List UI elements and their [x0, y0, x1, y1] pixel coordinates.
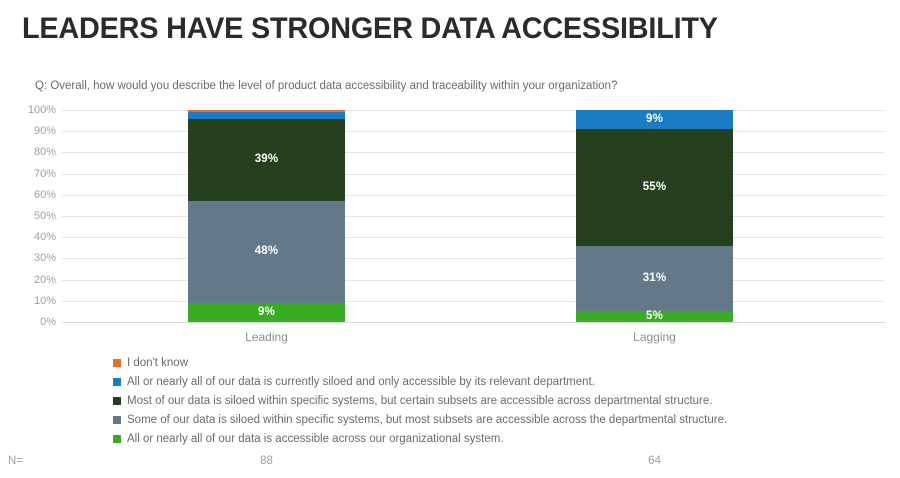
- legend-item[interactable]: All or nearly all of our data is accessi…: [113, 429, 893, 448]
- legend-item[interactable]: Some of our data is siloed within specif…: [113, 410, 893, 429]
- chart-legend: I don't knowAll or nearly all of our dat…: [113, 353, 893, 448]
- y-axis-tick: 50%: [34, 210, 56, 222]
- gridline: [62, 152, 885, 153]
- legend-item[interactable]: Most of our data is siloed within specif…: [113, 391, 893, 410]
- sample-size-row: N= 8864: [0, 455, 900, 473]
- gridline: [62, 195, 885, 196]
- legend-swatch-icon: [113, 378, 121, 386]
- sample-size-label: N=: [8, 455, 23, 467]
- legend-item-label: All or nearly all of our data is current…: [127, 376, 595, 388]
- sample-size-value: 88: [188, 455, 345, 467]
- y-axis-tick: 10%: [34, 295, 56, 307]
- gridline: [62, 237, 885, 238]
- bar-segment[interactable]: 9%: [188, 303, 345, 322]
- bar-segment-value: 31%: [643, 273, 667, 285]
- y-axis-tick: 0%: [40, 316, 56, 328]
- gridline: [62, 301, 885, 302]
- bar-segment-value: 5%: [646, 311, 663, 323]
- y-axis-tick: 60%: [34, 189, 56, 201]
- y-axis: 0%10%20%30%40%50%60%70%80%90%100%: [0, 110, 56, 322]
- bar-segment[interactable]: 5%: [576, 311, 733, 322]
- bar-segment[interactable]: 31%: [576, 246, 733, 312]
- bar-segment-value: 39%: [255, 154, 279, 166]
- bar-segment[interactable]: 9%: [576, 110, 733, 129]
- y-axis-tick: 70%: [34, 168, 56, 180]
- y-axis-tick: 80%: [34, 146, 56, 158]
- bar-lagging[interactable]: 9%55%31%5%: [576, 110, 733, 322]
- legend-item-label: Most of our data is siloed within specif…: [127, 395, 712, 407]
- gridline: [62, 216, 885, 217]
- legend-item-label: Some of our data is siloed within specif…: [127, 414, 727, 426]
- plot-area: 39%48%9%9%55%31%5%: [62, 110, 885, 322]
- sample-size-value: 64: [576, 455, 733, 467]
- gridline: [62, 258, 885, 259]
- y-axis-tick: 100%: [28, 104, 56, 116]
- legend-item-label: All or nearly all of our data is accessi…: [127, 433, 503, 445]
- bar-segment[interactable]: 55%: [576, 129, 733, 246]
- bar-segment-value: 9%: [646, 114, 663, 126]
- legend-swatch-icon: [113, 359, 121, 367]
- bar-segment[interactable]: 39%: [188, 119, 345, 202]
- bar-segment-value: 55%: [643, 182, 667, 194]
- bar-leading[interactable]: 39%48%9%: [188, 110, 345, 322]
- legend-swatch-icon: [113, 397, 121, 405]
- legend-item[interactable]: All or nearly all of our data is current…: [113, 372, 893, 391]
- legend-item-label: I don't know: [127, 357, 188, 369]
- gridline: [62, 280, 885, 281]
- gridline: [62, 322, 885, 323]
- gridline: [62, 110, 885, 111]
- y-axis-tick: 90%: [34, 125, 56, 137]
- chart-question-text: Q: Overall, how would you describe the l…: [35, 80, 617, 92]
- bar-segment-value: 9%: [258, 307, 275, 319]
- bar-segment-value: 48%: [255, 246, 279, 258]
- y-axis-tick: 30%: [34, 252, 56, 264]
- gridline: [62, 131, 885, 132]
- bar-segment[interactable]: 48%: [188, 201, 345, 303]
- y-axis-tick: 20%: [34, 274, 56, 286]
- legend-item[interactable]: I don't know: [113, 353, 893, 372]
- x-axis-label-leading: Leading: [188, 330, 345, 344]
- y-axis-tick: 40%: [34, 231, 56, 243]
- legend-swatch-icon: [113, 435, 121, 443]
- legend-swatch-icon: [113, 416, 121, 424]
- gridline: [62, 174, 885, 175]
- x-axis-label-lagging: Lagging: [576, 330, 733, 344]
- page-title: LEADERS HAVE STRONGER DATA ACCESSIBILITY: [22, 12, 718, 46]
